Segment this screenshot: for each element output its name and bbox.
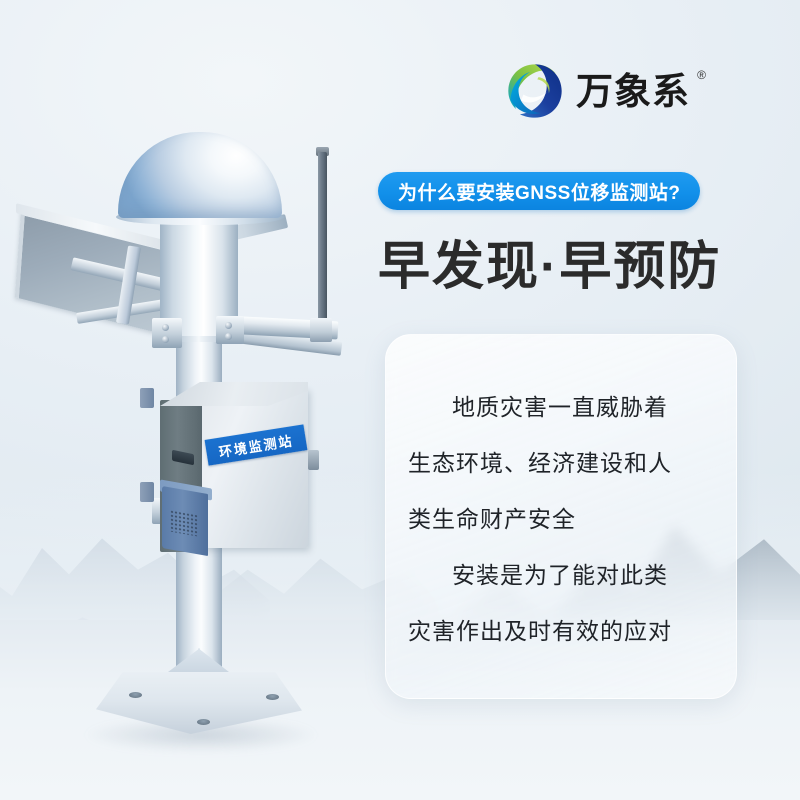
brand-name: 万象系 ® <box>576 73 690 110</box>
bolt-hole-icon <box>266 694 279 700</box>
description-line: 生态环境、经济建设和人 <box>386 435 736 491</box>
enclosure-clamp <box>140 388 154 408</box>
enclosure-box: 环境监测站 <box>158 380 316 558</box>
bolt-hole-icon <box>129 692 142 698</box>
antenna-rod-mount <box>310 318 332 342</box>
enclosure-front-panel <box>202 388 308 548</box>
question-badge[interactable]: 为什么要安装GNSS位移监测站? <box>378 172 700 210</box>
bolt-icon <box>225 322 232 329</box>
brand-logo: 万象系 ® <box>506 62 690 120</box>
description-text-block: 地质灾害一直威胁着 生态环境、经济建设和人 类生命财产安全 安装是为了能对此类 … <box>386 379 736 659</box>
description-line: 地质灾害一直威胁着 <box>386 379 736 435</box>
bolt-icon <box>162 336 169 343</box>
description-line: 灾害作出及时有效的应对 <box>386 603 736 659</box>
bolt-hole-icon <box>197 719 210 725</box>
pole-bracket <box>152 318 182 348</box>
poster-canvas: 环境监测站 <box>0 0 800 800</box>
gnss-dome-antenna <box>118 132 282 218</box>
bolt-icon <box>225 333 232 340</box>
gnss-monitoring-station-illustration: 环境监测站 <box>0 0 380 800</box>
description-line: 安装是为了能对此类 <box>386 547 736 603</box>
swirling-globe-logo-icon <box>506 62 564 120</box>
enclosure-clamp <box>140 482 154 502</box>
vent-slot-icon <box>172 450 194 466</box>
registered-trademark-icon: ® <box>697 69 707 81</box>
content-column: 万象系 ® 为什么要安装GNSS位移监测站? 早发现·早预防 地质灾害一直威胁着… <box>366 0 800 800</box>
question-badge-label: 为什么要安装GNSS位移监测站? <box>398 178 680 205</box>
brand-name-text: 万象系 <box>576 71 690 112</box>
enclosure-latch <box>308 450 319 470</box>
page-title: 早发现·早预防 <box>378 224 721 299</box>
antenna-rod <box>318 152 327 322</box>
bolt-icon <box>162 324 169 331</box>
pole-bracket <box>216 316 244 344</box>
description-card: 地质灾害一直威胁着 生态环境、经济建设和人 类生命财产安全 安装是为了能对此类 … <box>385 334 737 699</box>
description-line: 类生命财产安全 <box>386 491 736 547</box>
perforated-vent-icon <box>170 510 198 537</box>
